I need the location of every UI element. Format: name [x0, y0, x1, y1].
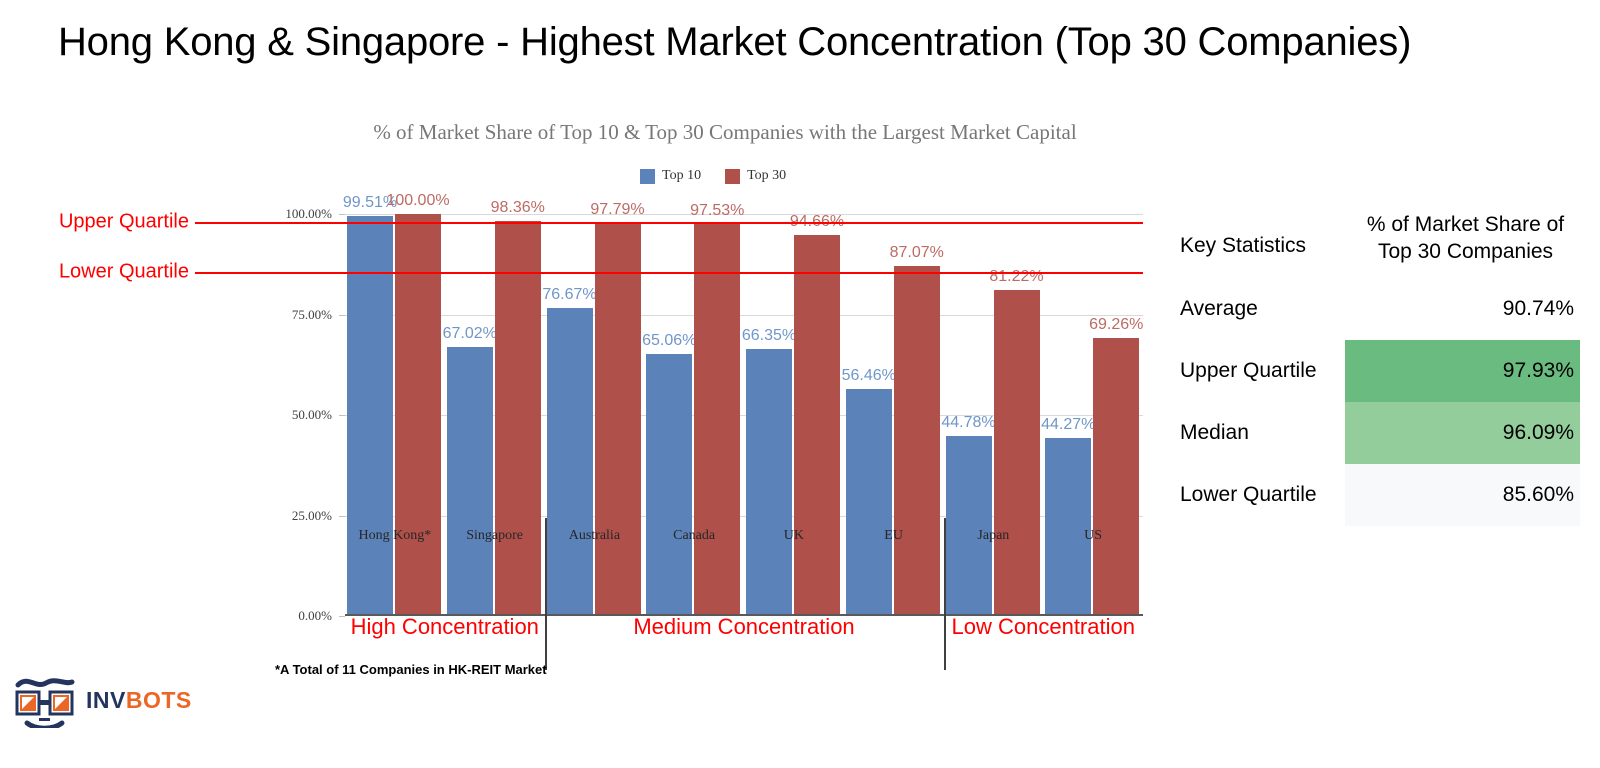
stats-row-value: 85.60%	[1345, 483, 1580, 507]
brand-logo: INVBOTS	[14, 672, 192, 728]
stats-header-label: Key Statistics	[1180, 212, 1345, 258]
bar-value-label: 97.79%	[590, 201, 644, 219]
stats-row: Average90.74%	[1180, 278, 1580, 340]
brand-name-part2: BOTS	[126, 687, 192, 713]
chart-legend: Top 10 Top 30	[640, 168, 786, 184]
bar-value-label: 69.26%	[1089, 316, 1143, 334]
section-divider	[545, 518, 547, 670]
x-axis-label-canada: Canada	[673, 528, 715, 544]
bar-group: 66.35%94.66%	[744, 214, 844, 616]
bar-top10[interactable]: 65.06%	[646, 354, 692, 616]
y-axis-tick-label: 100.00%	[285, 206, 341, 222]
bar-value-label: 100.00%	[386, 192, 449, 210]
legend-entry-top30: Top 30	[725, 168, 786, 184]
stats-row: Median96.09%	[1180, 402, 1580, 464]
bar-top30[interactable]: 98.36%	[495, 221, 541, 616]
stats-header-row: Key Statistics % of Market Share of Top …	[1180, 212, 1580, 278]
bar-value-label: 87.07%	[890, 244, 944, 262]
bar-top10[interactable]: 56.46%	[846, 389, 892, 616]
quartile-line: Upper Quartile	[195, 222, 1143, 224]
bar-top30[interactable]: 87.07%	[894, 266, 940, 616]
x-axis-label-australia: Australia	[569, 528, 620, 544]
bar-top10[interactable]: 76.67%	[547, 308, 593, 616]
legend-entry-top10: Top 10	[640, 168, 701, 184]
key-statistics-table: Key Statistics % of Market Share of Top …	[1180, 212, 1580, 526]
y-axis-tick-label: 75.00%	[292, 307, 341, 323]
stats-header-value-line2: Top 30 Companies	[1351, 239, 1580, 266]
invbots-glasses-icon	[14, 672, 76, 728]
brand-name-part1: INV	[86, 687, 126, 713]
x-axis-label-singapore: Singapore	[466, 528, 523, 544]
stats-row-value: 97.93%	[1345, 359, 1580, 383]
stats-row-value: 96.09%	[1345, 421, 1580, 445]
y-axis-tick-label: 0.00%	[298, 608, 341, 624]
quartile-line: Lower Quartile	[195, 272, 1143, 274]
bar-value-label: 67.02%	[443, 325, 497, 343]
bar-group: 99.51%100.00%	[345, 214, 445, 616]
x-axis-label-us: US	[1084, 528, 1102, 544]
x-axis-label-uk: UK	[784, 528, 804, 544]
bar-top30[interactable]: 94.66%	[794, 235, 840, 616]
bar-value-label: 65.06%	[642, 332, 696, 350]
section-divider	[944, 518, 946, 670]
stats-row-value: 90.74%	[1345, 297, 1580, 321]
bar-top10[interactable]: 67.02%	[447, 347, 493, 616]
y-axis-tick-mark	[339, 616, 345, 617]
stats-row-label: Lower Quartile	[1180, 483, 1345, 507]
bar-group: 44.27%69.26%	[1043, 214, 1143, 616]
section-caption: Medium Concentration	[633, 614, 854, 640]
legend-swatch-top10	[640, 169, 655, 184]
stats-row-label: Upper Quartile	[1180, 359, 1345, 383]
bar-top30[interactable]: 69.26%	[1093, 338, 1139, 616]
bar-top30[interactable]: 81.22%	[994, 290, 1040, 617]
stats-header-value-line1: % of Market Share of	[1351, 212, 1580, 239]
bar-value-label: 98.36%	[491, 199, 545, 217]
legend-label-top30: Top 30	[747, 168, 786, 184]
x-axis-label-hong-kong-: Hong Kong*	[359, 528, 432, 544]
y-axis-tick-label: 50.00%	[292, 407, 341, 423]
stats-row: Upper Quartile97.93%	[1180, 340, 1580, 402]
bar-top10[interactable]: 66.35%	[746, 349, 792, 616]
x-axis-label-japan: Japan	[977, 528, 1009, 544]
bar-value-label: 44.78%	[941, 414, 995, 432]
bar-group: 56.46%87.07%	[844, 214, 944, 616]
quartile-caption: Upper Quartile	[59, 211, 189, 234]
bar-value-label: 81.22%	[989, 268, 1043, 286]
bar-value-label: 44.27%	[1041, 416, 1095, 434]
section-caption: High Concentration	[351, 614, 539, 640]
section-caption: Low Concentration	[952, 614, 1135, 640]
bar-group: 76.67%97.79%	[545, 214, 645, 616]
page-title: Hong Kong & Singapore - Highest Market C…	[58, 20, 1538, 65]
bar-value-label: 76.67%	[542, 286, 596, 304]
plot-area: 100.00%75.00%50.00%25.00%0.00% 99.51%100…	[345, 214, 1143, 616]
bar-value-label: 66.35%	[742, 327, 796, 345]
stats-row-label: Median	[1180, 421, 1345, 445]
stats-header-value: % of Market Share of Top 30 Companies	[1345, 212, 1580, 266]
stats-rows: Average90.74%Upper Quartile97.93%Median9…	[1180, 278, 1580, 526]
bar-group: 65.06%97.53%	[644, 214, 744, 616]
bar-value-label: 97.53%	[690, 202, 744, 220]
legend-label-top10: Top 10	[662, 168, 701, 184]
stats-row: Lower Quartile85.60%	[1180, 464, 1580, 526]
brand-wordmark: INVBOTS	[86, 687, 192, 714]
bar-top10[interactable]: 44.78%	[946, 436, 992, 616]
chart-container: % of Market Share of Top 10 & Top 30 Com…	[255, 120, 1155, 640]
y-axis-tick-label: 25.00%	[292, 508, 341, 524]
bar-top30[interactable]: 100.00%	[395, 214, 441, 616]
bar-group: 67.02%98.36%	[445, 214, 545, 616]
stats-row-label: Average	[1180, 297, 1345, 321]
bar-value-label: 56.46%	[842, 367, 896, 385]
chart-subtitle: % of Market Share of Top 10 & Top 30 Com…	[285, 120, 1165, 145]
bar-top30[interactable]: 97.53%	[694, 224, 740, 616]
legend-swatch-top30	[725, 169, 740, 184]
quartile-caption: Lower Quartile	[59, 260, 189, 283]
bar-group: 44.78%81.22%	[944, 214, 1044, 616]
x-axis-label-eu: EU	[884, 528, 903, 544]
bar-top30[interactable]: 97.79%	[595, 223, 641, 616]
bar-top10[interactable]: 99.51%	[347, 216, 393, 616]
chart-footnote: *A Total of 11 Companies in HK-REIT Mark…	[275, 662, 547, 677]
